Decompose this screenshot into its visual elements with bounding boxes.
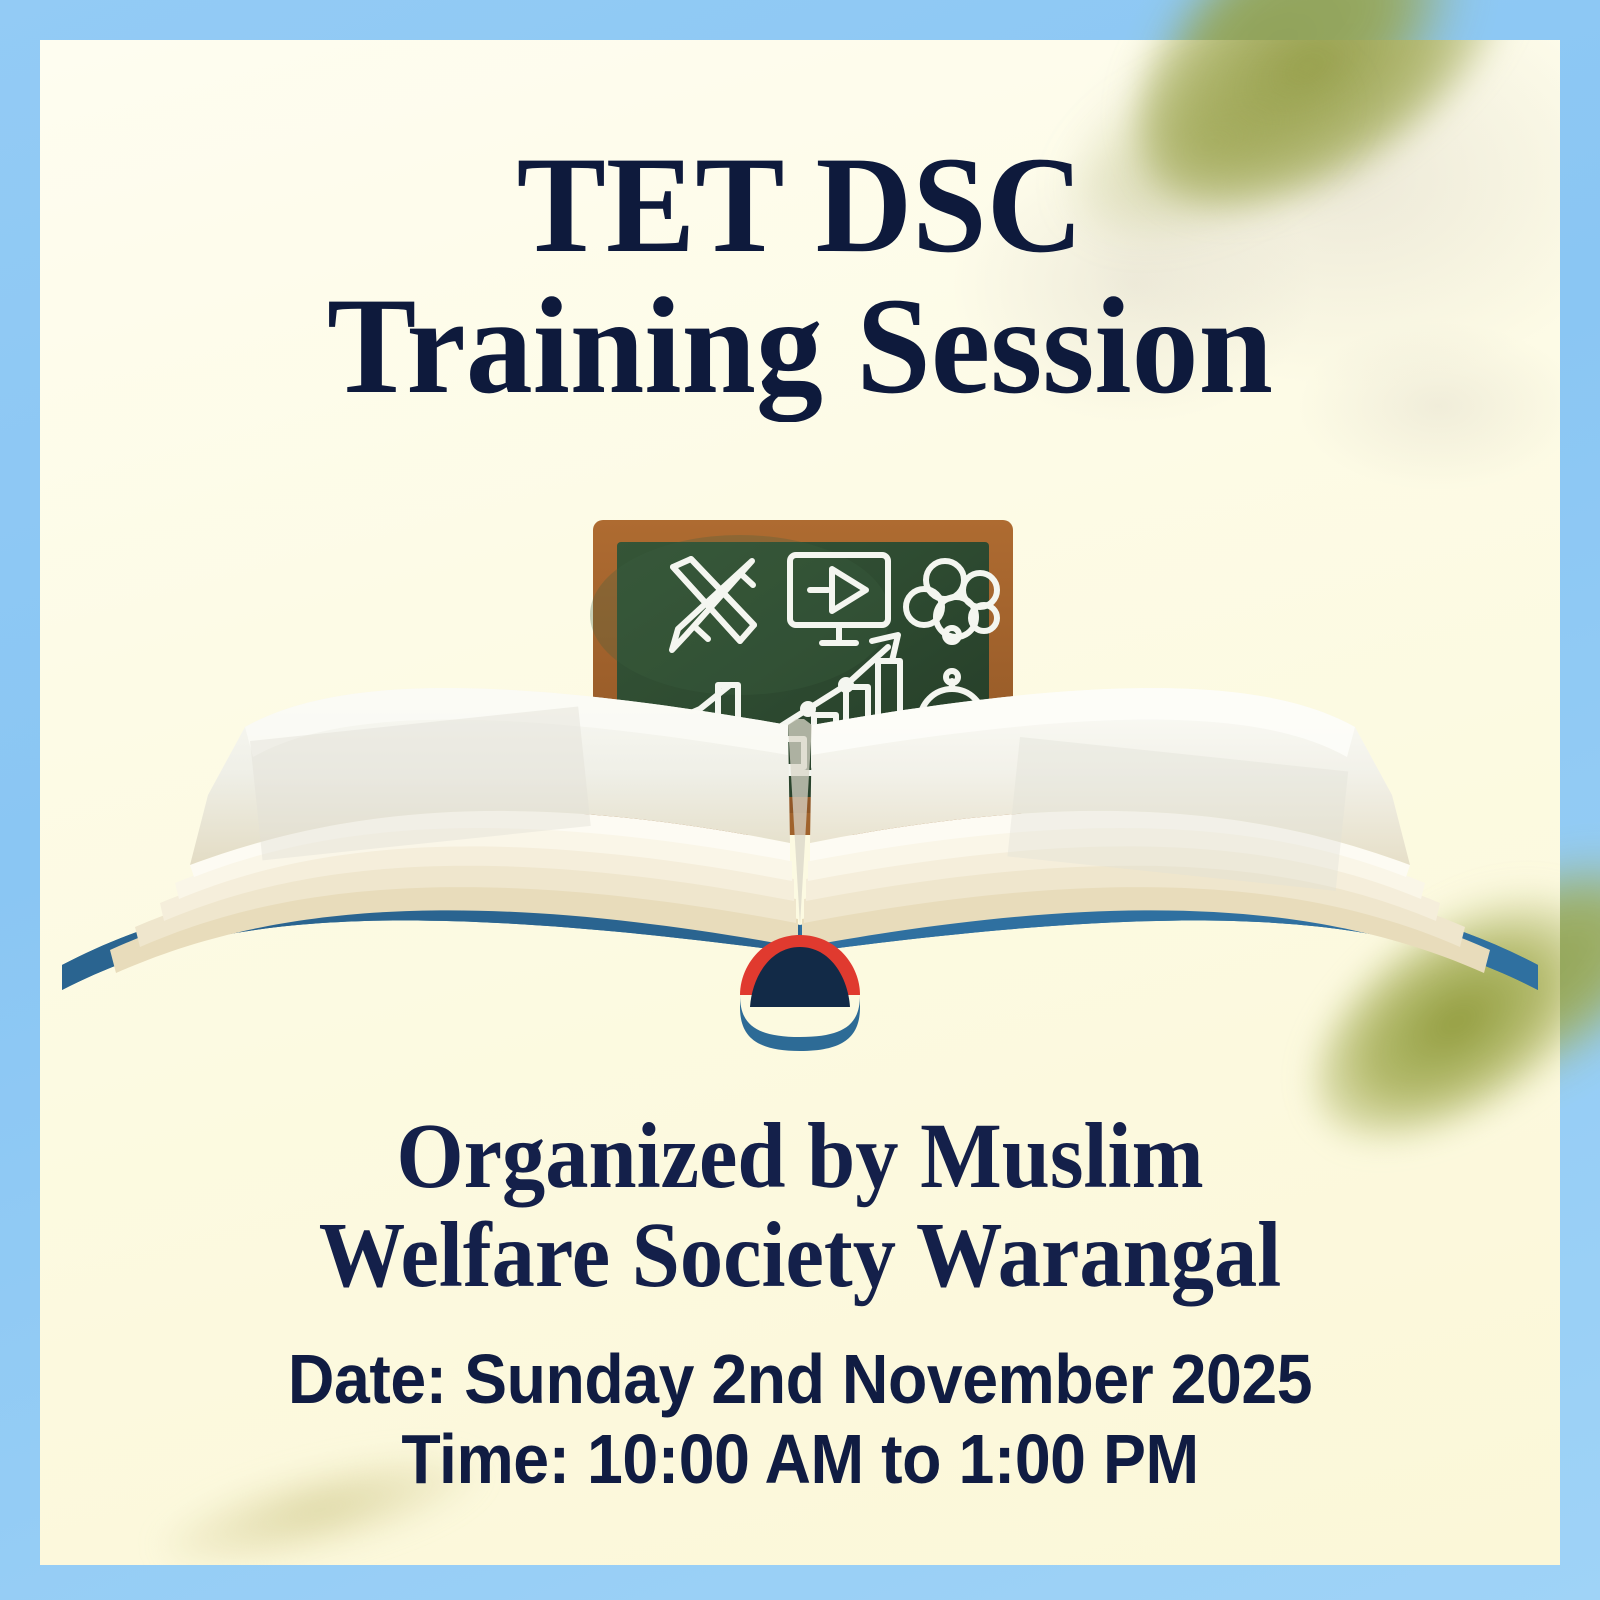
organizer-text: Organized by Muslim Welfare Society Wara…: [93, 1108, 1507, 1305]
event-details: Date: Sunday 2nd November 2025 Time: 10:…: [101, 1340, 1499, 1500]
event-date: Date: Sunday 2nd November 2025: [101, 1340, 1499, 1420]
organizer-line-1: Organized by Muslim: [93, 1108, 1507, 1207]
poster-title-line-2: Training Session: [63, 276, 1537, 417]
organizer-line-2: Welfare Society Warangal: [93, 1207, 1507, 1306]
education-illustration: [40, 495, 1560, 1105]
poster-card: TET DSC Training Session: [40, 40, 1560, 1565]
open-book-illustration: [62, 688, 1538, 1051]
poster-title-line-1: TET DSC: [63, 135, 1537, 276]
poster-title: TET DSC Training Session: [63, 135, 1537, 417]
poster: TET DSC Training Session: [0, 0, 1600, 1600]
event-time: Time: 10:00 AM to 1:00 PM: [101, 1420, 1499, 1500]
